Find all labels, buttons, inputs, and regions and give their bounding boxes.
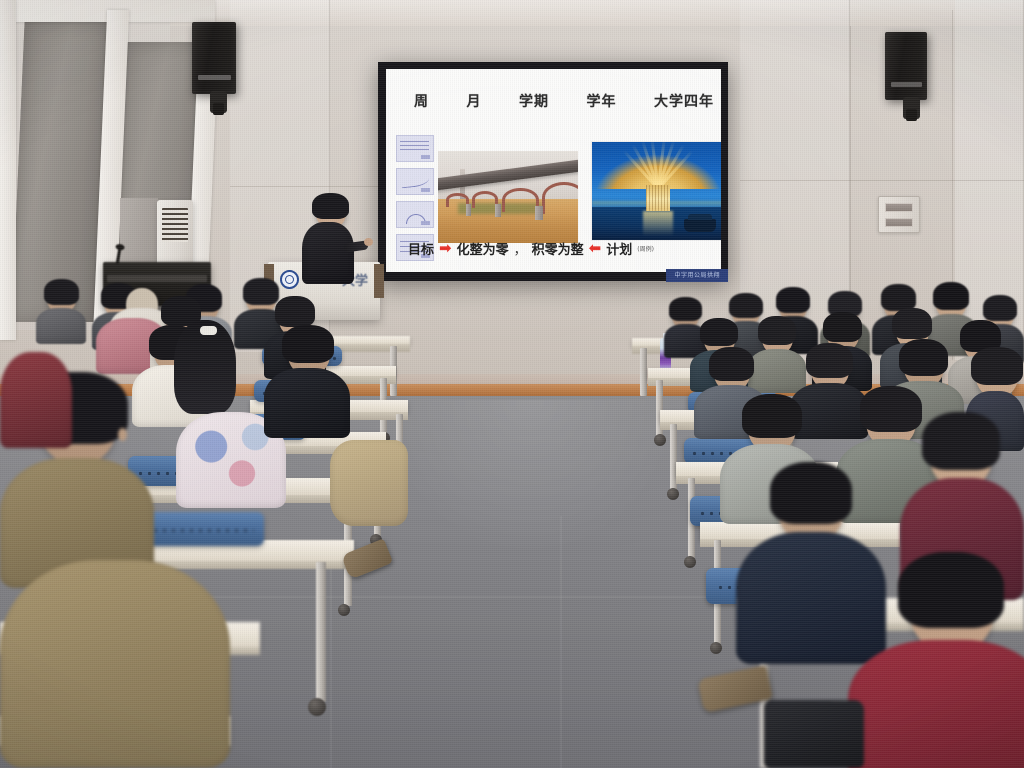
photo-night-golden-bridge — [591, 141, 721, 241]
lecture-hall-photo: 周 月 学期 学年 大学四年 — [0, 0, 1024, 768]
student — [264, 330, 350, 434]
ac-vents — [162, 208, 188, 242]
slide-caption: 目标 ➡ 化整为零 ， 积零为整 ⬅ 计划 (周例) — [408, 239, 713, 258]
projection-screen[interactable]: 周 月 学期 学年 大学四年 — [378, 62, 728, 281]
arrow-left-icon: ⬅ — [589, 241, 602, 256]
heading-month: 月 — [467, 91, 482, 111]
heading-four-years: 大学四年 — [654, 91, 714, 111]
student-foreground-tan-jacket — [0, 560, 230, 768]
hair-clip — [200, 326, 217, 335]
desk-caster — [710, 642, 722, 654]
desk-leg — [640, 348, 647, 396]
slide-heading: 周 月 学期 学年 大学四年 — [414, 91, 714, 111]
wall-seam-2 — [740, 180, 1024, 181]
student-foreground-red — [848, 562, 1024, 768]
caption-goal-label: 目标 — [408, 239, 434, 258]
desk-caster — [654, 434, 666, 446]
aisle-highlight — [380, 400, 680, 768]
desk-leg — [316, 562, 326, 702]
lectern-side-right — [374, 264, 384, 298]
desk-caster — [308, 698, 326, 716]
presenter — [300, 196, 360, 282]
student — [0, 322, 72, 442]
caption-separator: ， — [514, 239, 527, 258]
slide-footer-banner: 中字用公局拱翔 — [666, 269, 728, 282]
wall-speaker-right — [885, 32, 927, 100]
heading-semester: 学期 — [519, 91, 549, 111]
caption-plan-text: 积零为整 — [532, 239, 584, 258]
thumb-diagram-1 — [396, 135, 434, 162]
presenter-hand — [364, 238, 373, 246]
caption-plan-label: 计划 — [606, 239, 632, 258]
window-mullion-0 — [0, 0, 16, 340]
wall-seam-1 — [230, 186, 390, 187]
thumb-diagram-3 — [396, 201, 434, 228]
thumb-diagram-2 — [396, 168, 434, 195]
heading-week: 周 — [414, 91, 429, 111]
desk-caster — [338, 604, 350, 616]
student-khaki-legs — [330, 440, 408, 550]
wall-control-panel[interactable] — [878, 196, 920, 233]
slide-surface: 周 月 学期 学年 大学四年 — [386, 69, 721, 272]
curtained-window-1 — [11, 22, 108, 322]
bridge-fan-structure — [591, 141, 721, 189]
desk-caster — [667, 488, 679, 500]
heading-year: 学年 — [587, 91, 617, 111]
wall-speaker-left — [192, 22, 236, 94]
boat — [684, 219, 716, 232]
backpack[interactable] — [764, 700, 864, 768]
caption-note: (周例) — [637, 244, 654, 253]
desk-caster — [684, 556, 696, 568]
photo-daylight-arch-bridge — [438, 151, 578, 243]
caption-goal-text: 化整为零 — [457, 239, 509, 258]
arrow-right-icon: ➡ — [439, 241, 452, 256]
